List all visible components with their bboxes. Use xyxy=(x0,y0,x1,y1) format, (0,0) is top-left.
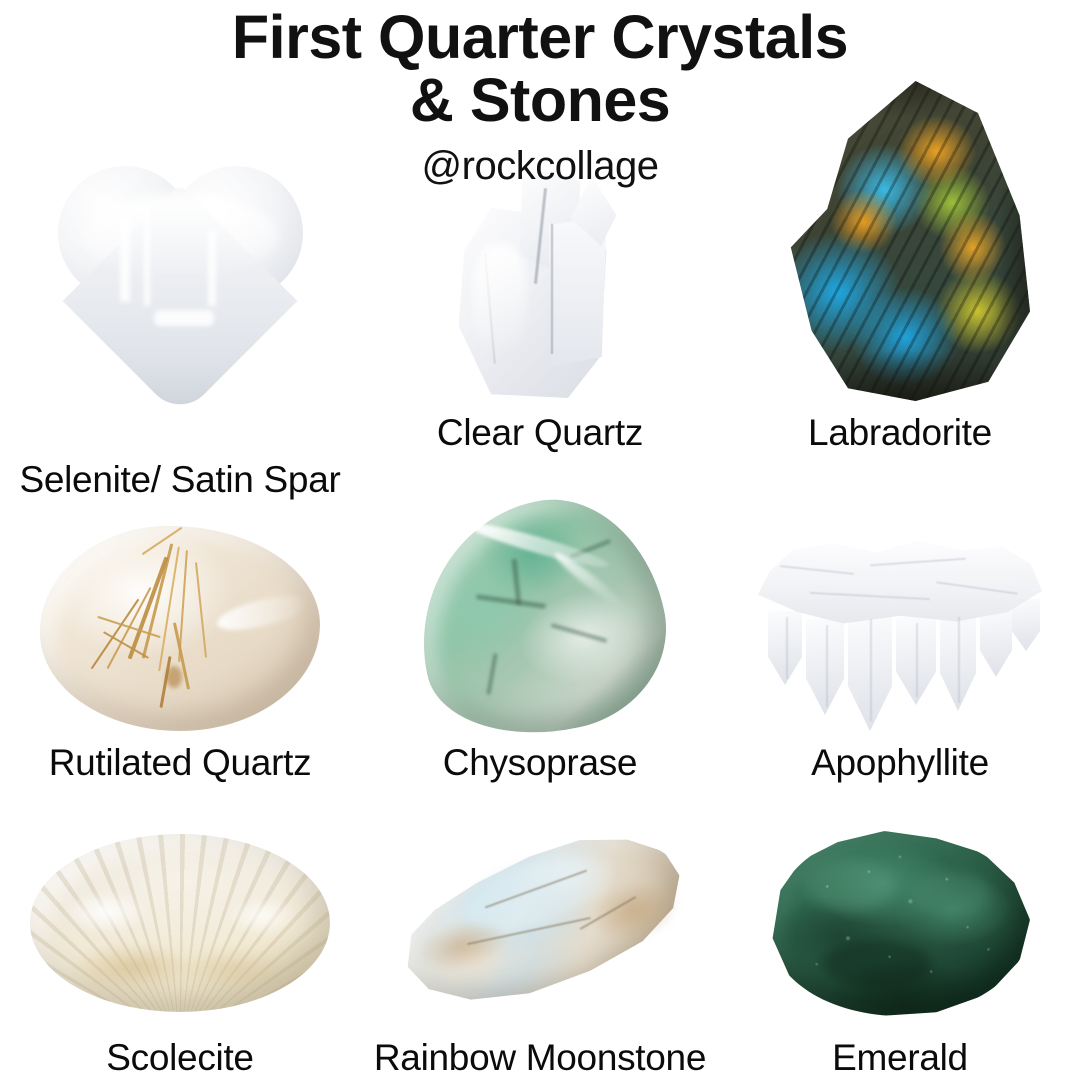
label-clear-quartz: Clear Quartz xyxy=(360,413,720,453)
clear-quartz-point-icon xyxy=(453,164,628,399)
scolecite-stage xyxy=(0,785,360,1022)
grid-item-emerald[interactable]: Emerald xyxy=(720,785,1080,1080)
emerald-rough-icon xyxy=(770,831,1030,1016)
label-scolecite: Scolecite xyxy=(0,1038,360,1078)
clear-quartz-stage xyxy=(360,0,720,403)
rainbow-moonstone-rough-icon xyxy=(390,826,690,1016)
scolecite-cabochon-icon xyxy=(30,834,330,1012)
labradorite-stage xyxy=(720,0,1080,403)
crystal-grid: Selenite/ Satin Spar Clear Quartz Labrad… xyxy=(0,0,1080,1080)
selenite-stage xyxy=(0,0,360,403)
apophyllite-cluster-icon xyxy=(750,533,1050,733)
chrysoprase-tumbled-icon xyxy=(418,503,663,733)
chysoprase-stage xyxy=(360,455,720,737)
grid-item-rutilated-quartz[interactable]: Rutilated Quartz xyxy=(0,455,360,785)
apophyllite-stage xyxy=(720,455,1080,737)
grid-item-rainbow-moonstone[interactable]: Rainbow Moonstone xyxy=(360,785,720,1080)
label-emerald: Emerald xyxy=(720,1038,1080,1078)
label-apophyllite: Apophyllite xyxy=(720,743,1080,783)
label-selenite: Selenite/ Satin Spar xyxy=(0,460,360,500)
grid-item-clear-quartz[interactable]: Clear Quartz xyxy=(360,0,720,455)
label-labradorite: Labradorite xyxy=(720,413,1080,453)
selenite-heart-icon xyxy=(58,148,303,393)
grid-item-scolecite[interactable]: Scolecite xyxy=(0,785,360,1080)
label-rutilated-quartz: Rutilated Quartz xyxy=(0,743,360,783)
grid-item-apophyllite[interactable]: Apophyllite xyxy=(720,455,1080,785)
grid-item-selenite[interactable]: Selenite/ Satin Spar xyxy=(0,0,360,455)
rainbow-moonstone-stage xyxy=(360,785,720,1022)
emerald-stage xyxy=(720,785,1080,1022)
grid-item-labradorite[interactable]: Labradorite xyxy=(720,0,1080,455)
grid-item-chysoprase[interactable]: Chysoprase xyxy=(360,455,720,785)
label-chysoprase: Chysoprase xyxy=(360,743,720,783)
label-rainbow-moonstone: Rainbow Moonstone xyxy=(360,1038,720,1078)
rutilated-quartz-tumbled-icon xyxy=(40,526,320,731)
labradorite-rough-icon xyxy=(770,81,1030,401)
